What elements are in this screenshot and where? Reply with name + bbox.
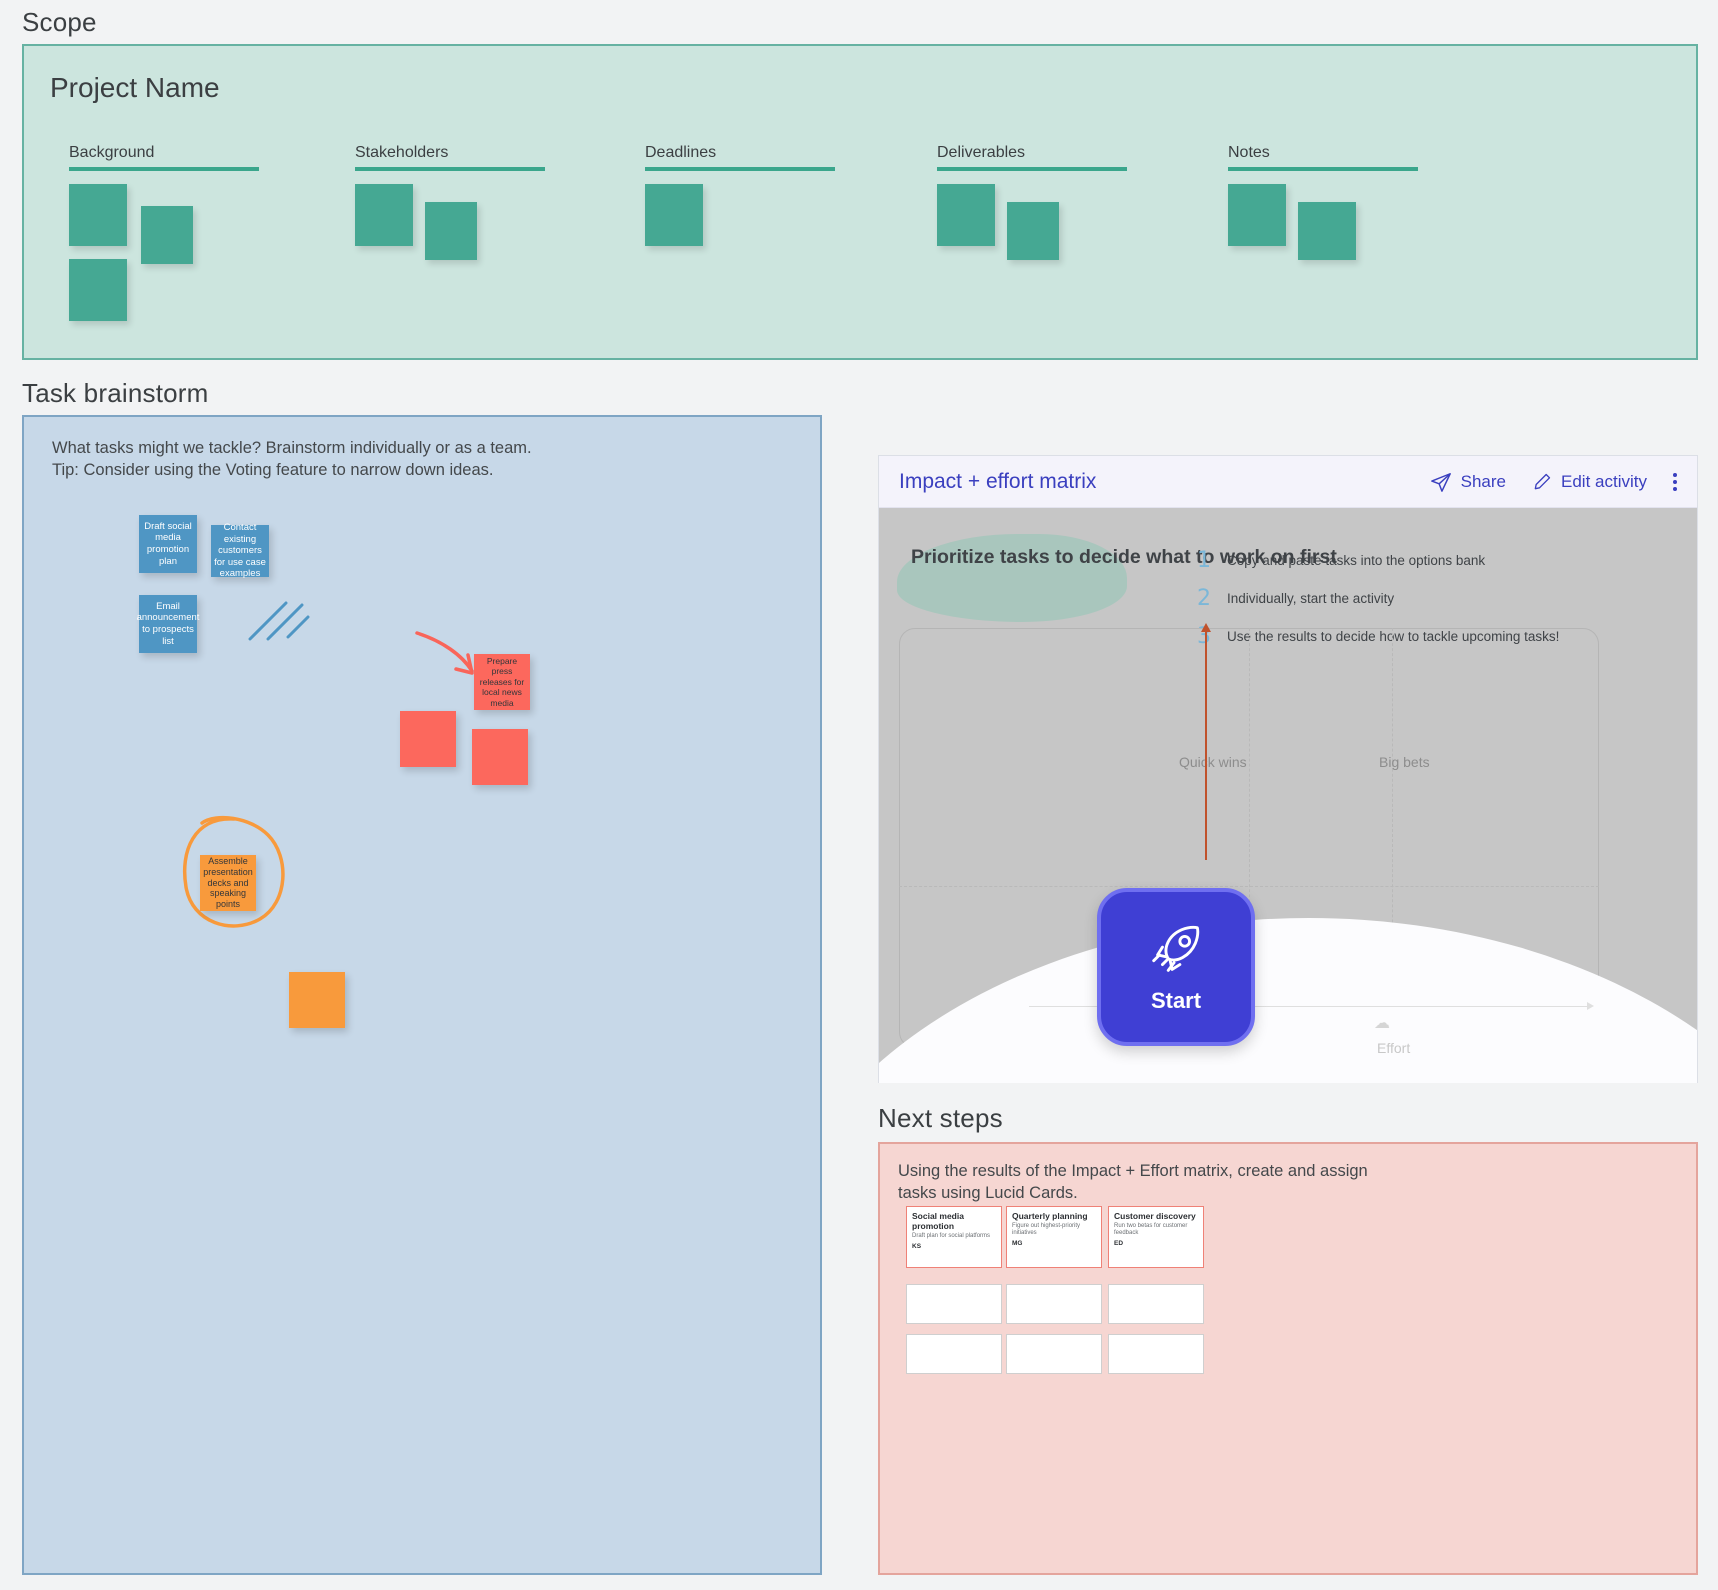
lucid-card[interactable]: Quarterly planningFigure out highest-pri…: [1006, 1206, 1102, 1268]
scope-sticky-note[interactable]: [425, 202, 477, 260]
scope-column-rule: [937, 167, 1127, 171]
scope-sticky-note[interactable]: [937, 184, 995, 246]
lucid-card-title: Social media promotion: [912, 1211, 996, 1231]
lucid-card-owner: MG: [1012, 1240, 1096, 1247]
empty-card-placeholder[interactable]: [1006, 1334, 1102, 1374]
axis-glyph-icon: ☁: [1374, 1013, 1390, 1033]
scope-sticky-note[interactable]: [69, 259, 127, 321]
activity-step-text: Individually, start the activity: [1227, 591, 1394, 606]
scope-column-rule: [645, 167, 835, 171]
share-label: Share: [1461, 472, 1506, 492]
effort-axis-label: Effort: [1377, 1040, 1410, 1056]
scope-sticky-note[interactable]: [1007, 202, 1059, 260]
next-steps-line2: tasks using Lucid Cards.: [898, 1182, 1368, 1204]
rocket-icon: [1145, 920, 1207, 982]
brainstorm-sticky-note[interactable]: Email announcement to prospects list: [139, 595, 197, 653]
blue-scribble-annotation: [246, 595, 316, 645]
activity-title: Impact + effort matrix: [899, 470, 1096, 494]
scope-sticky-note[interactable]: [69, 184, 127, 246]
matrix-quadrant-label: Big bets: [1379, 754, 1430, 770]
scope-sticky-note[interactable]: [1228, 184, 1286, 246]
activity-header: Impact + effort matrix Share Edit activi…: [879, 456, 1697, 508]
scope-column-deliverables: Deliverables: [937, 144, 1127, 171]
brainstorm-sticky-note[interactable]: Contact existing customers for use case …: [211, 525, 269, 577]
lucid-card[interactable]: Social media promotionDraft plan for soc…: [906, 1206, 1002, 1268]
activity-header-actions: Share Edit activity: [1430, 471, 1677, 493]
edit-activity-label: Edit activity: [1561, 472, 1647, 492]
scope-sticky-note[interactable]: [1298, 202, 1356, 260]
brainstorm-instructions-line2: Tip: Consider using the Voting feature t…: [52, 459, 532, 481]
matrix-quadrant-label: Quick wins: [1179, 754, 1247, 770]
scope-column-rule: [355, 167, 545, 171]
scope-column-deadlines: Deadlines: [645, 144, 835, 171]
lucid-card-description: Run two betas for customer feedback: [1114, 1223, 1198, 1237]
brainstorm-sticky-note[interactable]: [400, 711, 456, 767]
empty-card-placeholder[interactable]: [1108, 1334, 1204, 1374]
lucid-card-description: Draft plan for social platforms: [912, 1233, 996, 1240]
lucid-card-title: Quarterly planning: [1012, 1211, 1096, 1221]
task-brainstorm-heading: Task brainstorm: [22, 378, 209, 409]
more-options-icon[interactable]: [1673, 473, 1677, 491]
task-brainstorm-frame: What tasks might we tackle? Brainstorm i…: [22, 415, 822, 1575]
scope-column-rule: [1228, 167, 1418, 171]
scope-column-background: Background: [69, 144, 259, 171]
lucid-card-description: Figure out highest-priority initiatives: [1012, 1223, 1096, 1237]
brainstorm-sticky-note[interactable]: [472, 729, 528, 785]
start-activity-button[interactable]: Start: [1097, 888, 1255, 1046]
activity-step-text: Copy and paste tasks into the options ba…: [1227, 553, 1485, 568]
share-button[interactable]: Share: [1430, 471, 1506, 493]
scope-sticky-note[interactable]: [141, 206, 193, 264]
brainstorm-sticky-note[interactable]: Prepare press releases for local news me…: [474, 654, 530, 710]
scope-frame: Project Name BackgroundStakeholdersDeadl…: [22, 44, 1698, 360]
brainstorm-instructions-line1: What tasks might we tackle? Brainstorm i…: [52, 437, 532, 459]
next-steps-instructions: Using the results of the Impact + Effort…: [898, 1160, 1368, 1205]
lucid-card-title: Customer discovery: [1114, 1211, 1198, 1221]
scope-heading: Scope: [22, 7, 97, 38]
scope-column-label: Background: [69, 144, 259, 167]
impact-axis-arrow: [1205, 630, 1207, 860]
scope-column-rule: [69, 167, 259, 171]
project-name: Project Name: [50, 72, 220, 104]
pencil-icon: [1532, 472, 1552, 492]
lucid-card-owner: KS: [912, 1243, 996, 1250]
activity-step-number: 2: [1194, 586, 1214, 611]
scope-column-stakeholders: Stakeholders: [355, 144, 545, 171]
empty-card-placeholder[interactable]: [1108, 1284, 1204, 1324]
activity-step: 2Individually, start the activity: [1194, 586, 1559, 611]
scope-column-label: Deliverables: [937, 144, 1127, 167]
lucid-card[interactable]: Customer discoveryRun two betas for cust…: [1108, 1206, 1204, 1268]
impact-effort-matrix: Quick winsBig betsIncrementalMoney pit ☁…: [879, 628, 1697, 1083]
matrix-divider-horizontal: [899, 886, 1599, 887]
activity-step: 1Copy and paste tasks into the options b…: [1194, 548, 1559, 573]
scope-sticky-note[interactable]: [355, 184, 413, 246]
scope-column-label: Notes: [1228, 144, 1418, 167]
scope-column-notes: Notes: [1228, 144, 1418, 171]
activity-body: Prioritize tasks to decide what to work …: [879, 508, 1697, 1083]
empty-card-placeholder[interactable]: [906, 1334, 1002, 1374]
lucid-card-owner: ED: [1114, 1240, 1198, 1247]
next-steps-frame: Using the results of the Impact + Effort…: [878, 1142, 1698, 1575]
scope-sticky-note[interactable]: [645, 184, 703, 246]
scope-column-label: Stakeholders: [355, 144, 545, 167]
start-button-label: Start: [1151, 988, 1201, 1014]
brainstorm-instructions: What tasks might we tackle? Brainstorm i…: [52, 437, 532, 482]
send-icon: [1430, 471, 1452, 493]
empty-card-placeholder[interactable]: [1006, 1284, 1102, 1324]
brainstorm-sticky-note[interactable]: Draft social media promotion plan: [139, 515, 197, 573]
next-steps-heading: Next steps: [878, 1103, 1003, 1134]
edit-activity-button[interactable]: Edit activity: [1532, 472, 1647, 492]
activity-step-number: 1: [1194, 548, 1214, 573]
empty-card-placeholder[interactable]: [906, 1284, 1002, 1324]
impact-effort-activity-card: Impact + effort matrix Share Edit activi…: [878, 455, 1698, 1083]
brainstorm-sticky-note[interactable]: Assemble presentation decks and speaking…: [200, 855, 256, 911]
scope-column-label: Deadlines: [645, 144, 835, 167]
next-steps-line1: Using the results of the Impact + Effort…: [898, 1160, 1368, 1182]
brainstorm-sticky-note[interactable]: [289, 972, 345, 1028]
